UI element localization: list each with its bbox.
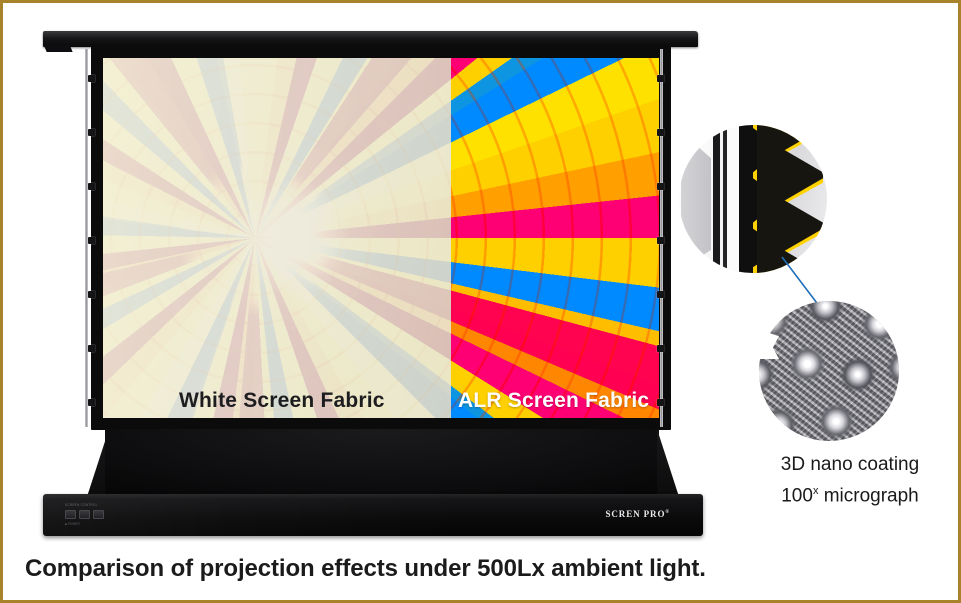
projector-screen-assembly: White Screen Fabric ALR Screen Fabric SC…: [43, 31, 703, 536]
cable-clip: [657, 183, 664, 190]
brand-logo: SCREN PRO®: [606, 509, 671, 519]
keypad-caption: SCREEN CONTROL: [65, 503, 98, 507]
cable-clip: [657, 75, 664, 82]
cross-section-stripe-dark-3: [739, 125, 757, 273]
nano-coating-micrograph-callout: [759, 301, 899, 441]
keypad-stop-button[interactable]: [79, 510, 90, 519]
keypad-down-button[interactable]: [93, 510, 104, 519]
cable-clip: [657, 129, 664, 136]
main-caption: Comparison of projection effects under 5…: [25, 555, 706, 583]
balloon-artwork-vivid: [451, 58, 659, 418]
balloon-crown: [451, 58, 659, 418]
alr-cross-section-callout: [679, 125, 827, 273]
micrograph-caption-line-1: 3D nano coating: [737, 451, 961, 478]
screen-head-bar-lip: [43, 43, 73, 52]
cross-section-stripe-light-2: [727, 125, 739, 273]
cable-clip: [657, 345, 664, 352]
micrograph-texture: [759, 301, 899, 441]
micrograph-caption: 3D nano coating 100x micrograph: [737, 451, 961, 509]
screen-head-bar: [43, 31, 698, 47]
micrograph-magnification-value: 100: [781, 485, 813, 506]
cross-section-stripe-dark-1: [713, 125, 720, 273]
cable-clip: [88, 75, 95, 82]
cross-section-disc: [679, 125, 827, 273]
screen-bezel: [91, 46, 671, 430]
projected-picture: [103, 58, 659, 418]
white-screen-fabric-label: White Screen Fabric: [179, 389, 385, 413]
cable-clip: [88, 291, 95, 298]
poster-root: White Screen Fabric ALR Screen Fabric SC…: [0, 0, 961, 603]
cable-clip: [88, 399, 95, 406]
cable-clip: [88, 183, 95, 190]
micrograph-disc: [759, 301, 899, 441]
balloon-artwork-washed: [103, 58, 451, 418]
keypad-power-label: ■ POWER: [65, 522, 80, 526]
cable-clip: [88, 237, 95, 244]
cable-clip: [88, 345, 95, 352]
keypad-up-button[interactable]: [65, 510, 76, 519]
cable-clip: [657, 237, 664, 244]
micrograph-caption-suffix: micrograph: [818, 485, 918, 506]
cable-clip: [88, 129, 95, 136]
micrograph-caption-line-2: 100x micrograph: [737, 478, 961, 509]
brand-logo-text: SCREN PRO: [606, 509, 666, 519]
brand-trademark-icon: ®: [665, 510, 670, 515]
cabinet-keypad[interactable]: [65, 510, 104, 519]
picture-half-alr-fabric: [451, 58, 659, 418]
alr-screen-fabric-label: ALR Screen Fabric: [458, 389, 649, 413]
cable-clip: [657, 291, 664, 298]
balloon-crown: [103, 58, 451, 418]
cabinet-sheen: [43, 494, 703, 536]
cross-section-substrate-notch: [681, 147, 711, 259]
picture-half-white-fabric: [103, 58, 451, 418]
cable-clip: [657, 399, 664, 406]
screen-cabinet: SCREEN CONTROL ■ POWER SCREN PRO®: [43, 494, 703, 536]
